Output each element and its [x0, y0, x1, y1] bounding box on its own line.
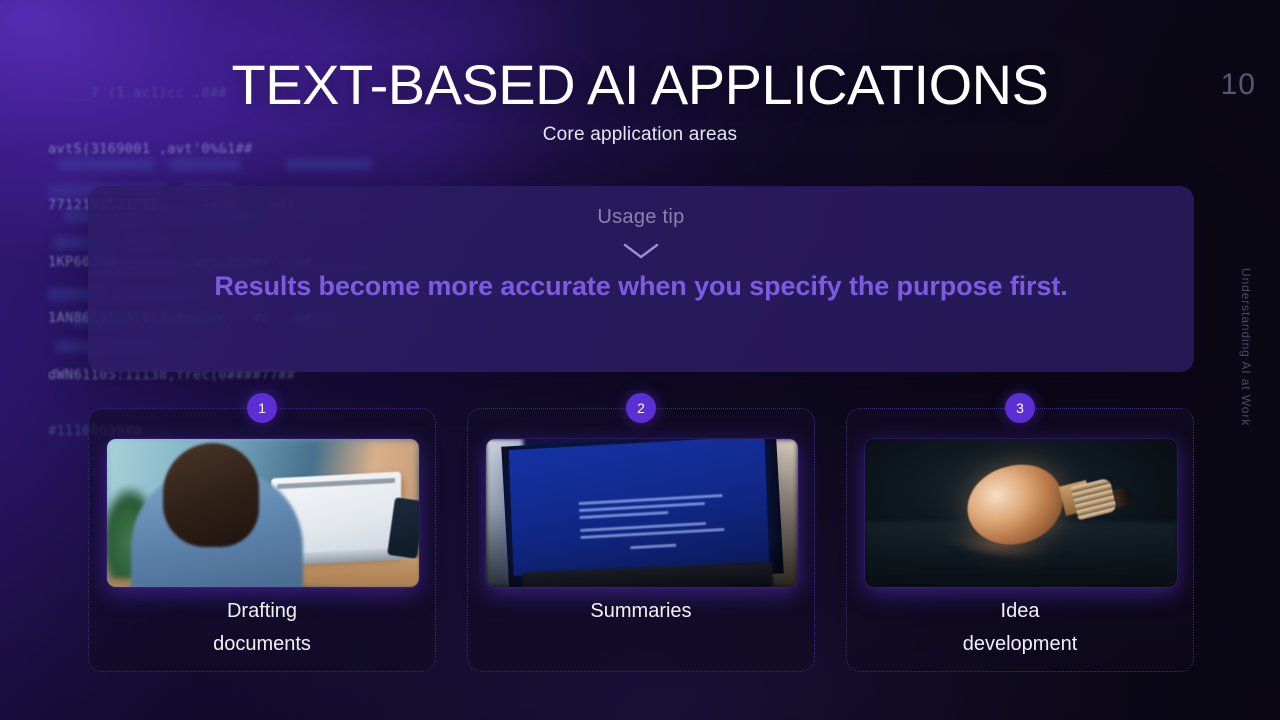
card-thumbnail [865, 439, 1177, 587]
card-label: Ideadevelopment [847, 595, 1193, 661]
usage-tip-text: Results become more accurate when you sp… [191, 269, 1091, 303]
card-thumbnail [107, 439, 419, 587]
card-badge: 2 [626, 393, 656, 423]
card-drafting-documents[interactable]: 1 Draftingdocuments [88, 408, 436, 672]
light-bulb-photo [865, 439, 1177, 587]
laptop-blue-screen-photo [486, 439, 798, 587]
page-subtitle: Core application areas [0, 124, 1280, 146]
card-label: Draftingdocuments [89, 595, 435, 661]
card-badge: 3 [1005, 393, 1035, 423]
card-label: Summaries [468, 595, 814, 628]
card-idea-development[interactable]: 3 Ideadevelopment [846, 408, 1194, 672]
deck-side-label: Understanding AI at Work [1239, 268, 1253, 426]
page-number: 10 [1221, 68, 1256, 102]
usage-tip-label: Usage tip [597, 206, 684, 229]
usage-tip-panel: Usage tip Results become more accurate w… [88, 186, 1194, 372]
card-summaries[interactable]: 2 Summaries [467, 408, 815, 672]
chevron-down-icon [621, 241, 661, 261]
slide-root: ___7 (1.ac1)cc .8## avtS(3169001 ,avt'0%… [0, 0, 1280, 720]
card-badge: 1 [247, 393, 277, 423]
page-title: TEXT-BASED AI APPLICATIONS [0, 52, 1280, 117]
code-line: ## ##### #### [48, 704, 478, 720]
person-at-laptop-photo [107, 439, 419, 587]
card-thumbnail [486, 439, 798, 587]
application-cards: 1 Draftingdocuments 2 [88, 408, 1194, 672]
